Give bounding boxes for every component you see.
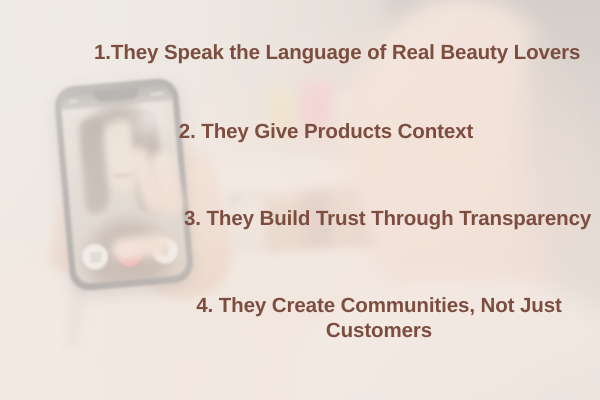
headline-item-1: 1.They Speak the Language of Real Beauty… xyxy=(94,40,584,65)
headline-item-2: 2. They Give Products Context xyxy=(126,119,526,144)
poster-canvas: 1.They Speak the Language of Real Beauty… xyxy=(0,0,600,400)
headline-list: 1.They Speak the Language of Real Beauty… xyxy=(0,0,600,400)
headline-item-4: 4. They Create Communities, Not Just Cus… xyxy=(186,293,572,343)
headline-item-3: 3. They Build Trust Through Transparency xyxy=(184,206,596,231)
